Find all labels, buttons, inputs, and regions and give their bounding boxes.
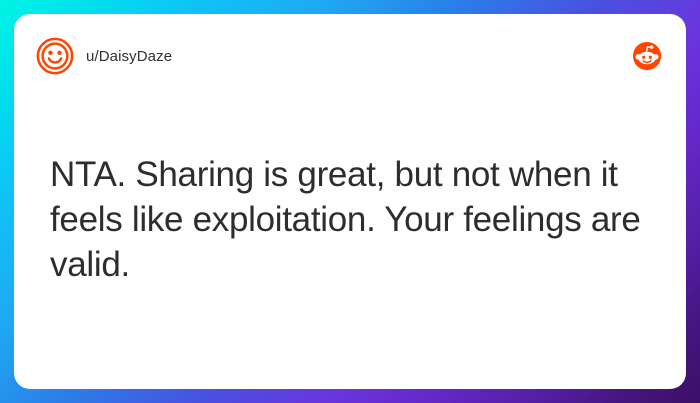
- card-body: NTA. Sharing is great, but not when it f…: [50, 152, 656, 287]
- reddit-snoo-icon[interactable]: [632, 41, 662, 71]
- author-block[interactable]: u/DaisyDaze: [36, 37, 632, 75]
- card-header: u/DaisyDaze: [14, 14, 686, 98]
- comment-text: NTA. Sharing is great, but not when it f…: [50, 152, 656, 287]
- reddit-comment-card: u/DaisyDaze NTA. Sharing is great, but n…: [14, 14, 686, 389]
- smiley-face-avatar-icon: [36, 37, 74, 75]
- screenshot-stage: u/DaisyDaze NTA. Sharing is great, but n…: [0, 0, 700, 403]
- author-username: u/DaisyDaze: [86, 48, 172, 65]
